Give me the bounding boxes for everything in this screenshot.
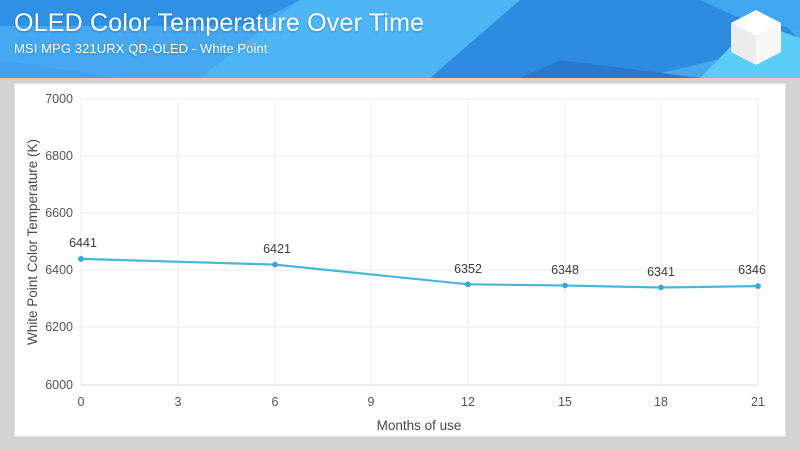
data-point xyxy=(465,281,471,287)
x-tick-label: 3 xyxy=(175,395,182,409)
y-tick-label: 6200 xyxy=(45,320,73,334)
chart-header: OLED Color Temperature Over Time MSI MPG… xyxy=(0,0,800,78)
x-tick-label: 18 xyxy=(654,395,668,409)
data-point xyxy=(272,262,278,268)
chart-panel: 7000 6800 6600 6400 6200 6000 0 3 6 9 12… xyxy=(14,83,786,437)
y-axis-title: White Point Color Temperature (K) xyxy=(25,139,40,345)
x-tick-label: 9 xyxy=(368,395,375,409)
x-tick-label: 21 xyxy=(751,395,765,409)
header-text-block: OLED Color Temperature Over Time MSI MPG… xyxy=(14,8,424,57)
data-point-label: 6348 xyxy=(551,263,579,277)
chart-screen: OLED Color Temperature Over Time MSI MPG… xyxy=(0,0,800,450)
data-point-label: 6346 xyxy=(738,263,766,277)
data-point-label: 6441 xyxy=(69,236,97,250)
x-axis-title: Months of use xyxy=(377,418,462,433)
y-tick-label: 6600 xyxy=(45,206,73,220)
cube-icon xyxy=(726,7,786,69)
data-point xyxy=(658,285,664,291)
data-point-label: 6341 xyxy=(647,265,675,279)
x-tick-labels: 0 3 6 9 12 15 18 21 xyxy=(78,395,765,409)
plot-area: 7000 6800 6600 6400 6200 6000 0 3 6 9 12… xyxy=(15,84,787,438)
data-point-label: 6352 xyxy=(454,262,482,276)
x-tick-label: 6 xyxy=(272,395,279,409)
y-tick-label: 6400 xyxy=(45,263,73,277)
line-chart: 7000 6800 6600 6400 6200 6000 0 3 6 9 12… xyxy=(15,84,787,438)
y-tick-label: 6000 xyxy=(45,378,73,392)
y-tick-label: 7000 xyxy=(45,92,73,106)
data-point-label: 6421 xyxy=(263,242,291,256)
page-subtitle: MSI MPG 321URX QD-OLED - White Point xyxy=(14,41,424,57)
data-point xyxy=(78,256,84,262)
data-point xyxy=(562,283,568,289)
page-title: OLED Color Temperature Over Time xyxy=(14,8,424,38)
data-point xyxy=(755,283,761,289)
plot-background xyxy=(81,99,758,385)
x-tick-label: 0 xyxy=(78,395,85,409)
x-tick-label: 12 xyxy=(461,395,475,409)
y-tick-label: 6800 xyxy=(45,149,73,163)
x-tick-label: 15 xyxy=(558,395,572,409)
